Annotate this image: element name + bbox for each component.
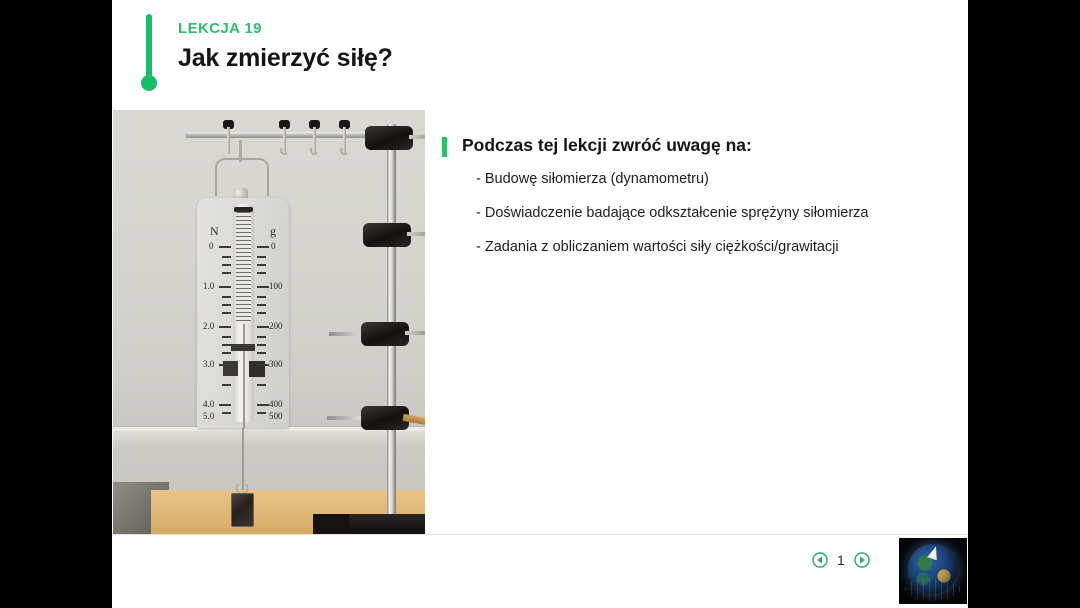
tick-mark — [257, 352, 266, 354]
tick-n-5: 5.0 — [203, 411, 214, 421]
tick-g-0: 0 — [271, 241, 276, 251]
tick-mark — [257, 364, 269, 366]
tick-n-3: 3.0 — [203, 359, 214, 369]
hook-curl — [310, 146, 319, 155]
slide-header: LEKCJA 19 Jak zmierzyć siłę? — [112, 0, 968, 110]
tick-mark — [257, 384, 266, 386]
spring-coil — [236, 212, 251, 324]
clamp-arm — [407, 232, 425, 236]
list-item: - Budowę siłomierza (dynamometru) — [442, 170, 962, 188]
tick-mark — [257, 326, 269, 328]
tick-mark — [257, 296, 266, 298]
rod-hook — [223, 120, 230, 154]
tick-mark — [257, 264, 266, 266]
clamp-cross-arm — [327, 416, 361, 420]
tick-mark — [219, 326, 231, 328]
tick-mark — [222, 336, 231, 338]
experiment-photo: N g 0 1.0 2.0 3.0 4.0 5.0 — [113, 110, 425, 534]
tick-mark — [219, 364, 231, 366]
slide-surface: LEKCJA 19 Jak zmierzyć siłę? — [112, 0, 968, 608]
tick-mark — [222, 304, 231, 306]
tick-n-1: 1.0 — [203, 281, 214, 291]
hanging-wire — [242, 428, 244, 490]
scale-unit-gram: g — [270, 224, 276, 239]
tick-mark — [222, 352, 231, 354]
tick-mark — [257, 344, 266, 346]
list-item: - Zadania z obliczaniem wartości siły ci… — [442, 238, 962, 256]
slide-footer: 1 — [112, 548, 968, 588]
scale-unit-newton: N — [210, 224, 219, 239]
hook-curl — [280, 146, 289, 155]
tick-g-1: 100 — [269, 281, 283, 291]
tick-mark — [222, 412, 231, 414]
pagination-controls: 1 — [812, 552, 870, 568]
spring-wire — [243, 324, 245, 428]
list-item: - Doświadczenie badające odkształcenie s… — [442, 204, 962, 222]
lesson-label: LEKCJA 19 — [178, 20, 262, 37]
objectives-heading-row: Podczas tej lekcji zwróć uwagę na: — [442, 135, 962, 156]
tick-mark — [222, 312, 231, 314]
accent-pin-icon — [146, 14, 152, 80]
stand-clamp — [363, 223, 411, 247]
tick-g-4: 400 — [269, 399, 283, 409]
tick-mark — [219, 246, 231, 248]
tick-mark — [222, 344, 231, 346]
tick-mark — [219, 286, 231, 288]
tick-mark — [257, 246, 269, 248]
video-viewport: LEKCJA 19 Jak zmierzyć siłę? — [0, 0, 1080, 608]
earth-globe-thumbnail[interactable] — [899, 538, 967, 604]
hanging-weight — [231, 493, 254, 527]
tick-mark — [222, 296, 231, 298]
tick-mark — [257, 312, 266, 314]
rod-hook — [279, 120, 286, 154]
stand-base — [349, 514, 425, 531]
tick-mark — [257, 336, 266, 338]
page-title: Jak zmierzyć siłę? — [178, 44, 393, 73]
tick-mark — [257, 256, 266, 258]
rod-hook — [339, 120, 346, 154]
dynamometer-body: N g 0 1.0 2.0 3.0 4.0 5.0 — [197, 198, 289, 428]
stand-clamp — [361, 406, 409, 430]
clamp-arm — [409, 135, 425, 139]
stand-clamp — [361, 322, 409, 346]
tick-mark — [222, 272, 231, 274]
stand-clamp — [365, 126, 413, 150]
tick-mark — [222, 256, 231, 258]
next-page-icon[interactable] — [854, 552, 870, 568]
tick-g-5: 500 — [269, 411, 283, 421]
hook-stem — [227, 127, 230, 154]
tick-g-3: 300 — [269, 359, 283, 369]
tick-g-2: 200 — [269, 321, 283, 331]
tick-mark — [222, 264, 231, 266]
rod-hook — [309, 120, 316, 154]
lesson-objectives-panel: Podczas tej lekcji zwróć uwagę na: - Bud… — [442, 135, 962, 272]
spring-pointer — [231, 344, 255, 351]
hook-curl — [340, 146, 349, 155]
tick-mark — [257, 412, 266, 414]
content-divider — [112, 534, 968, 535]
tick-mark — [257, 272, 266, 274]
tick-mark — [222, 384, 231, 386]
objectives-heading: Podczas tej lekcji zwróć uwagę na: — [462, 135, 752, 155]
tick-mark — [257, 286, 269, 288]
tick-n-0: 0 — [209, 241, 214, 251]
tick-mark — [219, 404, 231, 406]
heading-accent-bar — [442, 137, 447, 157]
globe-grid-overlay — [905, 578, 961, 600]
prev-page-icon[interactable] — [812, 552, 828, 568]
tick-n-4: 4.0 — [203, 399, 214, 409]
clamp-arm — [405, 331, 425, 335]
clamp-cross-arm — [329, 332, 363, 336]
page-number: 1 — [837, 552, 845, 568]
tick-mark — [257, 304, 266, 306]
tick-n-2: 2.0 — [203, 321, 214, 331]
tick-mark — [257, 404, 269, 406]
